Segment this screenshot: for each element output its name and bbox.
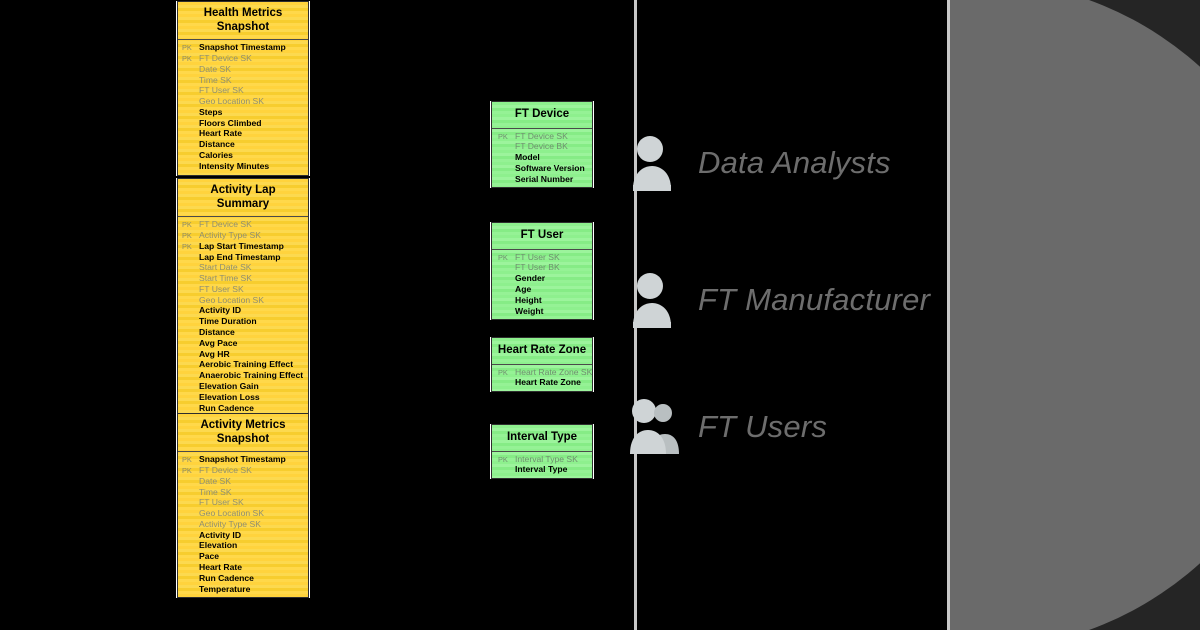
attribute-name: Geo Location SK (199, 296, 304, 305)
attribute-row[interactable]: Date SK (178, 64, 308, 75)
person-group-icon (630, 396, 684, 458)
attribute-name: Pace (199, 552, 304, 561)
attribute-name: Activity ID (199, 531, 304, 540)
attribute-name: Geo Location SK (199, 97, 304, 106)
entity-activity-metrics-snapshot[interactable]: Activity MetricsSnapshotPKSnapshot Times… (177, 413, 309, 598)
attribute-row[interactable]: Serial Number (492, 174, 592, 185)
attribute-row[interactable]: FT User SK (178, 284, 308, 295)
entity-attribute-list: PKSnapshot TimestampPKFT Device SKDate S… (178, 452, 308, 597)
attribute-row[interactable]: FT Device BK (492, 141, 592, 152)
entity-title: Interval Type (492, 425, 592, 452)
attribute-name: Time SK (199, 76, 304, 85)
attribute-name: Distance (199, 140, 304, 149)
attribute-name: Activity ID (199, 306, 304, 315)
attribute-row[interactable]: Temperature (178, 584, 308, 595)
attribute-name: FT Device BK (515, 142, 588, 151)
entity-activity-lap-summary[interactable]: Activity LapSummaryPKFT Device SKPKActiv… (177, 178, 309, 417)
attribute-name: Start Date SK (199, 263, 304, 272)
attribute-key-marker: PK (498, 133, 515, 140)
actor-label: FT Manufacturer (698, 282, 930, 318)
attribute-name: Date SK (199, 477, 304, 486)
attribute-row[interactable]: Gender (492, 273, 592, 284)
attribute-row[interactable]: Distance (178, 139, 308, 150)
person-icon (630, 132, 684, 194)
attribute-name: Activity Type SK (199, 520, 304, 529)
attribute-name: Time SK (199, 488, 304, 497)
attribute-name: Date SK (199, 65, 304, 74)
attribute-name: FT User SK (199, 86, 304, 95)
attribute-name: Calories (199, 151, 304, 160)
attribute-row[interactable]: Run Cadence (178, 573, 308, 584)
decorative-circle (950, 0, 1200, 630)
attribute-row[interactable]: PKFT Device SK (492, 131, 592, 142)
attribute-row[interactable]: Geo Location SK (178, 96, 308, 107)
attribute-name: Model (515, 153, 588, 162)
attribute-name: Anaerobic Training Effect (199, 371, 304, 380)
attribute-row[interactable]: Height (492, 295, 592, 306)
attribute-row[interactable]: Steps (178, 107, 308, 118)
attribute-row[interactable]: FT User SK (178, 497, 308, 508)
attribute-key-marker: PK (182, 456, 199, 463)
attribute-name: Temperature (199, 585, 304, 594)
entity-title: Health MetricsSnapshot (178, 2, 308, 40)
attribute-name: Distance (199, 328, 304, 337)
entity-title: Heart Rate Zone (492, 338, 592, 365)
attribute-name: Floors Climbed (199, 119, 304, 128)
entity-attribute-list: PKFT Device SKPKActivity Type SKPKLap St… (178, 217, 308, 416)
actor-label: FT Users (698, 409, 827, 445)
attribute-name: Heart Rate Zone (515, 378, 588, 387)
attribute-key-marker: PK (498, 254, 515, 261)
attribute-row[interactable]: Floors Climbed (178, 118, 308, 129)
attribute-row[interactable]: Age (492, 284, 592, 295)
attribute-name: FT User BK (515, 263, 588, 272)
attribute-row[interactable]: Intensity Minutes (178, 161, 308, 172)
attribute-name: Elevation Gain (199, 382, 304, 391)
attribute-name: FT User SK (199, 285, 304, 294)
attribute-row[interactable]: Elevation Gain (178, 381, 308, 392)
entity-title-line2: Snapshot (182, 21, 304, 35)
attribute-key-marker: PK (182, 232, 199, 239)
attribute-name: FT Device SK (199, 220, 304, 229)
attribute-row[interactable]: Interval Type (492, 464, 592, 475)
attribute-row[interactable]: Model (492, 152, 592, 163)
attribute-name: Steps (199, 108, 304, 117)
actor-label: Data Analysts (698, 145, 891, 181)
attribute-row[interactable]: PKHeart Rate Zone SK (492, 367, 592, 378)
actor-ft-manufacturer: FT Manufacturer (630, 265, 930, 335)
attribute-row[interactable]: Lap End Timestamp (178, 251, 308, 262)
entity-attribute-list: PKFT Device SKFT Device BKModelSoftware … (492, 129, 592, 188)
entity-ft-user[interactable]: FT UserPKFT User SKFT User BKGenderAgeHe… (491, 222, 593, 320)
attribute-name: Geo Location SK (199, 509, 304, 518)
attribute-name: Interval Type (515, 465, 588, 474)
attribute-name: FT User SK (515, 253, 588, 262)
entity-title: FT Device (492, 102, 592, 129)
attribute-name: FT Device SK (515, 132, 588, 141)
attribute-key-marker: PK (182, 221, 199, 228)
attribute-name: Weight (515, 307, 588, 316)
entity-title-line1: FT User (496, 229, 588, 243)
attribute-key-marker: PK (182, 243, 199, 250)
attribute-row[interactable]: Pace (178, 551, 308, 562)
entity-title-line1: Health Metrics (182, 7, 304, 21)
attribute-name: Age (515, 285, 588, 294)
attribute-row[interactable]: Start Time SK (178, 273, 308, 284)
entity-heart-rate-zone[interactable]: Heart Rate ZonePKHeart Rate Zone SKHeart… (491, 337, 593, 392)
attribute-row[interactable]: Date SK (178, 476, 308, 487)
attribute-row[interactable]: Time Duration (178, 316, 308, 327)
attribute-key-marker: PK (182, 467, 199, 474)
attribute-name: Avg Pace (199, 339, 304, 348)
attribute-name: Lap Start Timestamp (199, 242, 304, 251)
attribute-name: Elevation Loss (199, 393, 304, 402)
attribute-row[interactable]: PKFT User SK (492, 252, 592, 263)
attribute-row[interactable]: Heart Rate (178, 562, 308, 573)
attribute-row[interactable]: Activity ID (178, 305, 308, 316)
actor-ft-users: FT Users (630, 392, 827, 462)
attribute-row[interactable]: Software Version (492, 163, 592, 174)
attribute-name: Start Time SK (199, 274, 304, 283)
entity-title-line1: FT Device (496, 108, 588, 122)
attribute-name: Time Duration (199, 317, 304, 326)
attribute-row[interactable]: PKLap Start Timestamp (178, 241, 308, 252)
attribute-row[interactable]: PKSnapshot Timestamp (178, 454, 308, 465)
attribute-row[interactable]: Avg Pace (178, 338, 308, 349)
attribute-key-marker: PK (182, 44, 199, 51)
attribute-row[interactable]: PKFT Device SK (178, 53, 308, 64)
diagram-canvas: Data AnalystsFT ManufacturerFT Users Hea… (0, 0, 1200, 630)
entity-title: FT User (492, 223, 592, 250)
attribute-name: FT User SK (199, 498, 304, 507)
attribute-name: Software Version (515, 164, 588, 173)
attribute-name: Activity Type SK (199, 231, 304, 240)
attribute-name: Gender (515, 274, 588, 283)
attribute-name: Run Cadence (199, 404, 304, 413)
attribute-row[interactable]: Heart Rate Zone (492, 377, 592, 388)
panel-divider-right (947, 0, 950, 630)
attribute-name: Aerobic Training Effect (199, 360, 304, 369)
attribute-name: Heart Rate Zone SK (515, 368, 592, 377)
attribute-row[interactable]: Run Cadence (178, 402, 308, 413)
actor-data-analysts: Data Analysts (630, 128, 891, 198)
attribute-row[interactable]: Time SK (178, 486, 308, 497)
entity-title-line1: Activity Lap (182, 184, 304, 198)
entity-title: Activity LapSummary (178, 179, 308, 217)
attribute-name: FT Device SK (199, 466, 304, 475)
attribute-name: Serial Number (515, 175, 588, 184)
attribute-name: Snapshot Timestamp (199, 43, 304, 52)
attribute-row[interactable]: Weight (492, 305, 592, 316)
entity-title-line1: Heart Rate Zone (496, 344, 588, 358)
attribute-row[interactable]: PKInterval Type SK (492, 454, 592, 465)
attribute-row[interactable]: Distance (178, 327, 308, 338)
attribute-row[interactable]: Activity Type SK (178, 519, 308, 530)
attribute-name: Heart Rate (199, 563, 304, 572)
attribute-row[interactable]: Geo Location SK (178, 508, 308, 519)
attribute-row[interactable]: PKSnapshot Timestamp (178, 42, 308, 53)
attribute-row[interactable]: Elevation Loss (178, 392, 308, 403)
entity-attribute-list: PKHeart Rate Zone SKHeart Rate Zone (492, 365, 592, 392)
attribute-row[interactable]: Heart Rate (178, 128, 308, 139)
attribute-name: Height (515, 296, 588, 305)
entity-title-line2: Summary (182, 198, 304, 212)
attribute-row[interactable]: PKActivity Type SK (178, 230, 308, 241)
attribute-row[interactable]: Aerobic Training Effect (178, 359, 308, 370)
entity-title: Activity MetricsSnapshot (178, 414, 308, 452)
attribute-name: Avg HR (199, 350, 304, 359)
attribute-row[interactable]: Elevation (178, 540, 308, 551)
attribute-row[interactable]: FT User BK (492, 262, 592, 273)
entity-attribute-list: PKSnapshot TimestampPKFT Device SKDate S… (178, 40, 308, 174)
attribute-row[interactable]: Activity ID (178, 530, 308, 541)
entity-title-line1: Activity Metrics (182, 419, 304, 433)
attribute-name: Heart Rate (199, 129, 304, 138)
attribute-row[interactable]: PKFT Device SK (178, 465, 308, 476)
person-icon (630, 269, 684, 331)
entity-health-metrics-snapshot[interactable]: Health MetricsSnapshotPKSnapshot Timesta… (177, 1, 309, 176)
entity-attribute-list: PKInterval Type SKInterval Type (492, 452, 592, 479)
attribute-name: FT Device SK (199, 54, 304, 63)
attribute-name: Interval Type SK (515, 455, 588, 464)
entity-attribute-list: PKFT User SKFT User BKGenderAgeHeightWei… (492, 250, 592, 320)
right-panel (950, 0, 1200, 630)
attribute-row[interactable]: Calories (178, 150, 308, 161)
attribute-name: Run Cadence (199, 574, 304, 583)
attribute-row[interactable]: Start Date SK (178, 262, 308, 273)
entity-title-line2: Snapshot (182, 433, 304, 447)
attribute-name: Intensity Minutes (199, 162, 304, 171)
attribute-name: Snapshot Timestamp (199, 455, 304, 464)
attribute-key-marker: PK (182, 55, 199, 62)
attribute-row[interactable]: Avg HR (178, 349, 308, 360)
attribute-row[interactable]: Time SK (178, 74, 308, 85)
attribute-key-marker: PK (498, 369, 515, 376)
attribute-row[interactable]: PKFT Device SK (178, 219, 308, 230)
attribute-name: Lap End Timestamp (199, 253, 304, 262)
attribute-row[interactable]: Anaerobic Training Effect (178, 370, 308, 381)
entity-title-line1: Interval Type (496, 431, 588, 445)
entity-interval-type[interactable]: Interval TypePKInterval Type SKInterval … (491, 424, 593, 479)
entity-ft-device[interactable]: FT DevicePKFT Device SKFT Device BKModel… (491, 101, 593, 188)
attribute-row[interactable]: Geo Location SK (178, 295, 308, 306)
attribute-key-marker: PK (498, 456, 515, 463)
attribute-row[interactable]: FT User SK (178, 85, 308, 96)
attribute-name: Elevation (199, 541, 304, 550)
